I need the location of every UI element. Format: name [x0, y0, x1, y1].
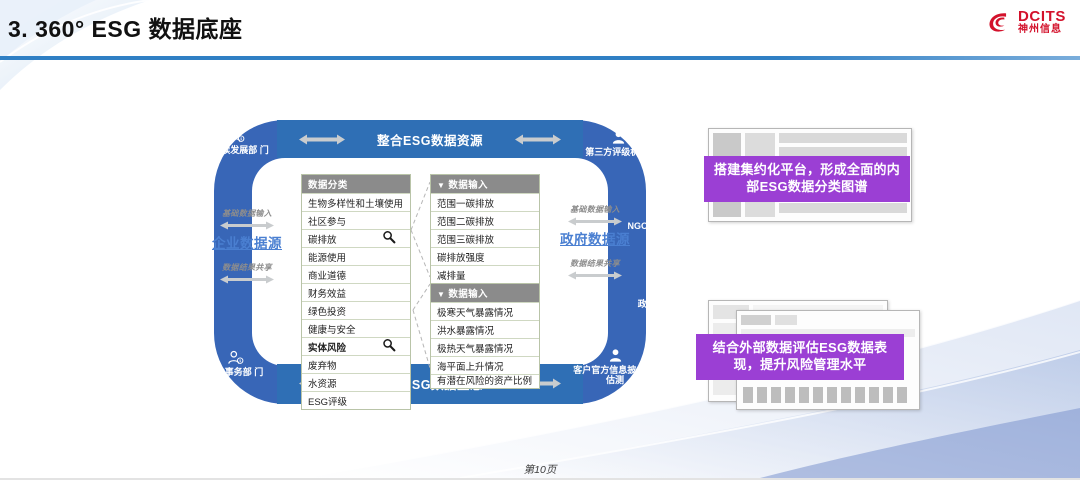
table-row: 碳排放 — [302, 229, 410, 247]
title-divider — [0, 56, 1080, 60]
person-icon — [610, 130, 627, 147]
person-icon — [649, 282, 666, 299]
search-icon[interactable] — [382, 338, 396, 352]
table-header-data-input[interactable]: ▼数据输入 — [431, 284, 539, 302]
caption-basic-data-input: 基础数据输入 — [201, 208, 293, 219]
callout-external-data-assessment: 结合外部数据评估ESG数据表现，提升风险管理水平 — [708, 300, 918, 410]
table-cell-label: 碳排放 — [308, 235, 337, 246]
bidirectional-arrow-icon — [220, 275, 274, 284]
table-row: 废弃物 — [302, 355, 410, 373]
logo-text-cn: 神州信息 — [1018, 25, 1066, 35]
svg-text:$: $ — [199, 289, 201, 293]
svg-text:$: $ — [240, 137, 242, 141]
logo-text-en: DCITS — [1018, 9, 1066, 24]
svg-text:$: $ — [239, 359, 241, 363]
table-data-input-physical-risk: ▼数据输入 极寒天气暴露情况 洪水暴露情况 极热天气暴露情况 海平面上升情况 有… — [430, 283, 540, 389]
actor-label: 客户官方信息披 露及估测 — [573, 366, 657, 385]
chevron-down-icon: ▼ — [437, 290, 445, 299]
table-row: 范围二碳排放 — [431, 211, 539, 229]
chevron-down-icon: ▼ — [437, 181, 445, 190]
table-row: 范围一碳排放 — [431, 193, 539, 211]
table-data-category: 数据分类 生物多样性和土壤使用 社区参与 碳排放 能源使用 商业道德 财务效益 … — [301, 174, 411, 410]
page-title: 3. 360° ESG 数据底座 — [8, 10, 243, 44]
actor-sustainability-dept: $ 可持续发展部 门 — [201, 128, 271, 156]
table-header-data-input[interactable]: ▼数据输入 — [431, 175, 539, 193]
person-icon: $ — [228, 128, 245, 145]
dcits-swirl-icon — [987, 9, 1013, 35]
person-icon — [649, 204, 666, 221]
person-icon — [607, 348, 624, 365]
table-row: 商业道德 — [302, 265, 410, 283]
table-row: 健康与安全 — [302, 319, 410, 337]
enterprise-data-source-group: 基础数据输入 企业数据源 数据结果共享 — [201, 208, 293, 286]
table-row: 极热天气暴露情况 — [431, 338, 539, 356]
slide-header: 3. 360° ESG 数据底座 DCITS 神州信息 — [0, 0, 1080, 56]
bidirectional-arrow-icon — [568, 271, 622, 280]
table-row: 范围三碳排放 — [431, 229, 539, 247]
actor-label: 政府数 据 — [622, 300, 692, 310]
table-row: 海平面上升情况 — [431, 356, 539, 374]
table-header-data-category: 数据分类 — [302, 175, 410, 193]
table-row: 水资源 — [302, 373, 410, 391]
caption-data-result-sharing: 数据结果共享 — [201, 262, 293, 273]
table-row: 能源使用 — [302, 247, 410, 265]
table-row: 绿色投资 — [302, 301, 410, 319]
table-row: ESG评级 — [302, 391, 410, 409]
actor-public-affairs-dept: $ 公共事务部 门 — [200, 350, 270, 378]
table-row: 洪水暴露情况 — [431, 320, 539, 338]
government-data-source-label: 政府数据源 — [549, 228, 641, 248]
actor-label: 可持续发展部 门 — [201, 146, 271, 156]
bidirectional-arrow-icon — [220, 221, 274, 230]
callout-internal-platform: 搭建集约化平台，形成全面的内部ESG数据分类图谱 — [708, 128, 910, 224]
table-cell-label: 实体风险 — [308, 343, 346, 354]
table-row: 社区参与 — [302, 211, 410, 229]
brand-logo: DCITS 神州信息 — [987, 9, 1066, 35]
actor-label: 公共事务部 门 — [200, 368, 270, 378]
table-header-label: 数据输入 — [448, 180, 488, 191]
person-icon: $ — [227, 350, 244, 367]
esg-data-platform-diagram: 整合ESG数据资源 形成ESG数据生态 $ 可持续发展部 门 $ 风险部 门 $… — [165, 112, 695, 412]
table-row: 减排量 — [431, 265, 539, 283]
government-data-source-group: 基础数据输入 政府数据源 数据结果共享 — [549, 204, 641, 282]
page-number: 第10页 — [0, 462, 1080, 477]
search-icon[interactable] — [382, 230, 396, 244]
actor-government-data: 政府数 据 — [622, 282, 692, 310]
table-row: 有潜在风险的资产比例 — [431, 374, 539, 388]
actor-label: 第三方评级机 构 — [583, 148, 653, 158]
table-row: 碳排放强度 — [431, 247, 539, 265]
actor-customer-official-disclosure: 客户官方信息披 露及估测 — [573, 348, 657, 385]
caption-data-result-sharing: 数据结果共享 — [549, 258, 641, 269]
caption-basic-data-input: 基础数据输入 — [549, 204, 641, 215]
bidirectional-arrow-icon — [568, 217, 622, 226]
table-row: 极寒天气暴露情况 — [431, 302, 539, 320]
actor-third-party-rating-agency: 第三方评级机 构 — [583, 130, 653, 158]
callout-banner: 结合外部数据评估ESG数据表现，提升风险管理水平 — [696, 334, 904, 380]
table-data-input-emissions: ▼数据输入 范围一碳排放 范围二碳排放 范围三碳排放 碳排放强度 减排量 — [430, 174, 540, 284]
callout-banner: 搭建集约化平台，形成全面的内部ESG数据分类图谱 — [704, 156, 910, 202]
table-row: 财务效益 — [302, 283, 410, 301]
table-header-label: 数据输入 — [448, 289, 488, 300]
table-row: 实体风险 — [302, 337, 410, 355]
table-row: 生物多样性和土壤使用 — [302, 193, 410, 211]
enterprise-data-source-label: 企业数据源 — [201, 232, 293, 252]
actor-label: 投资部 门 — [160, 298, 230, 308]
